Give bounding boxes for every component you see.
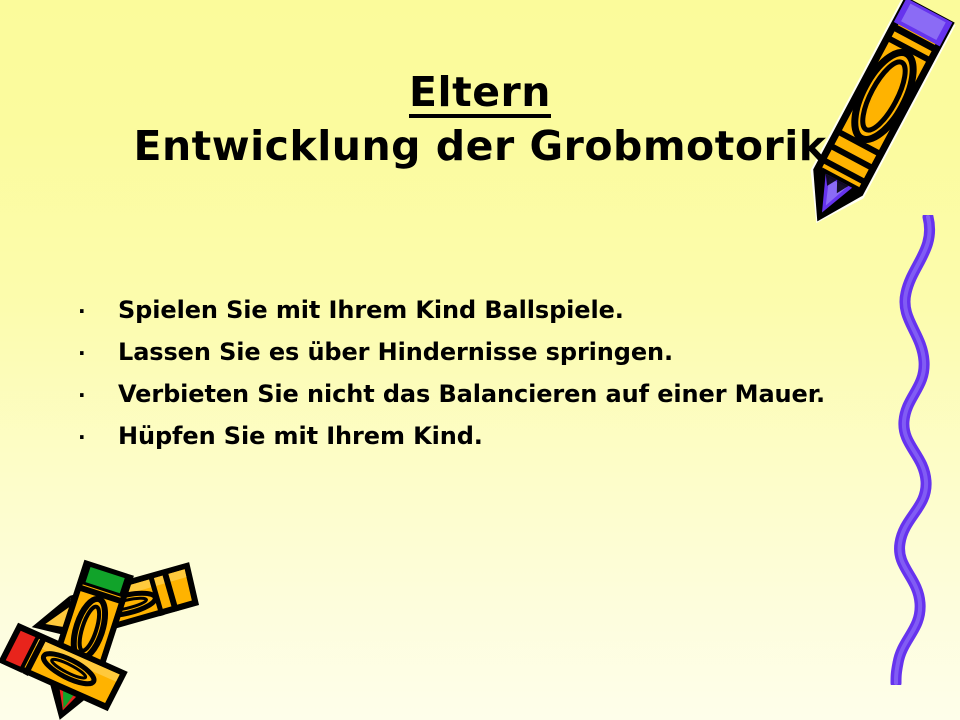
- list-item-text: Verbieten Sie nicht das Balancieren auf …: [118, 380, 878, 408]
- bullet-marker-icon: ·: [78, 301, 118, 321]
- list-item-text: Hüpfen Sie mit Ihrem Kind.: [118, 422, 878, 450]
- bullet-marker-icon: ·: [78, 427, 118, 447]
- list-item: · Verbieten Sie nicht das Balancieren au…: [78, 380, 878, 422]
- bullet-marker-icon: ·: [78, 343, 118, 363]
- slide-canvas: Eltern Entwicklung der Grobmotorik · Spi…: [0, 0, 960, 720]
- list-item: · Spielen Sie mit Ihrem Kind Ballspiele.: [78, 296, 878, 338]
- purple-squiggle-line-icon: [876, 215, 956, 685]
- title-line-1: Eltern: [0, 72, 960, 118]
- title-line-1-text: Eltern: [409, 72, 551, 118]
- slide-title: Eltern Entwicklung der Grobmotorik: [0, 72, 960, 167]
- bullet-list: · Spielen Sie mit Ihrem Kind Ballspiele.…: [78, 296, 878, 464]
- title-line-2: Entwicklung der Grobmotorik: [0, 126, 960, 167]
- list-item: · Hüpfen Sie mit Ihrem Kind.: [78, 422, 878, 464]
- crossed-crayons-icon: [0, 550, 235, 720]
- list-item-text: Spielen Sie mit Ihrem Kind Ballspiele.: [118, 296, 878, 324]
- bullet-marker-icon: ·: [78, 385, 118, 405]
- list-item-text: Lassen Sie es über Hindernisse springen.: [118, 338, 878, 366]
- list-item: · Lassen Sie es über Hindernisse springe…: [78, 338, 878, 380]
